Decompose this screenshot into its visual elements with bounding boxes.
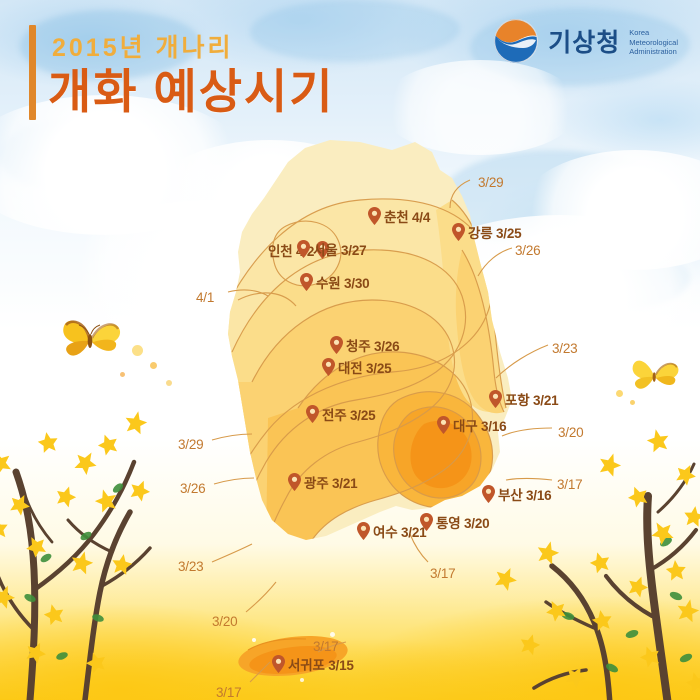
map-pin-icon <box>297 240 310 258</box>
city-marker-춘천[interactable]: 춘천 4/4 <box>368 206 430 226</box>
map-pin-icon <box>357 522 370 540</box>
city-marker-수원[interactable]: 수원 3/30 <box>300 272 369 292</box>
contour-label: 4/1 <box>196 290 214 305</box>
city-label: 서귀포 3/15 <box>288 654 354 674</box>
city-label: 춘천 4/4 <box>384 206 430 226</box>
forsythia-branch <box>0 400 210 700</box>
dot-decoration <box>150 362 157 369</box>
city-label: 강릉 3/25 <box>468 222 521 242</box>
page-title: 개화 예상시기 <box>48 68 335 115</box>
sparkle <box>330 632 335 637</box>
page-subtitle: 2015년 개나리 <box>52 28 234 64</box>
map-pin-icon <box>288 473 301 491</box>
kma-name-ko: 기상청 <box>548 23 620 59</box>
forsythia-branch <box>490 420 700 700</box>
kma-name-en-line2: Meteorological <box>629 38 678 48</box>
map-pin-icon <box>300 273 313 291</box>
city-label: 청주 3/26 <box>346 335 399 355</box>
sparkle <box>252 638 256 642</box>
map-pin-icon <box>489 390 502 408</box>
infographic-canvas: 2015년 개나리 개화 예상시기 기상청 Korea Meteorologic… <box>0 0 700 700</box>
city-label: 수원 3/30 <box>316 272 369 292</box>
city-marker-강릉[interactable]: 강릉 3/25 <box>452 222 521 242</box>
city-label: 통영 3/20 <box>436 512 489 532</box>
contour-label: 3/17 <box>430 566 455 581</box>
city-label: 전주 3/25 <box>322 404 375 424</box>
dot-decoration <box>616 390 623 397</box>
kma-name-en: Korea Meteorological Administration <box>629 25 678 58</box>
kma-name-en-line3: Administration <box>629 47 678 57</box>
map-pin-icon <box>330 336 343 354</box>
dot-decoration <box>166 380 172 386</box>
contour-label: 3/23 <box>552 341 577 356</box>
contour-label: 3/17 <box>313 639 338 654</box>
dot-decoration <box>630 400 635 405</box>
title-accent-bar <box>29 25 36 120</box>
city-marker-여수[interactable]: 여수 3/21 <box>357 521 426 541</box>
city-label: 대전 3/25 <box>338 357 391 377</box>
map-pin-icon <box>437 416 450 434</box>
dot-decoration <box>132 345 143 356</box>
map-pin-icon <box>420 513 433 531</box>
city-marker-광주[interactable]: 광주 3/21 <box>288 472 357 492</box>
city-marker-청주[interactable]: 청주 3/26 <box>330 335 399 355</box>
city-label: 포항 3/21 <box>505 389 558 409</box>
city-label: 여수 3/21 <box>373 521 426 541</box>
city-marker-포항[interactable]: 포항 3/21 <box>489 389 558 409</box>
map-pin-icon <box>306 405 319 423</box>
map-pin-icon <box>452 223 465 241</box>
forsythia-blossoms <box>491 427 700 694</box>
kma-name-en-line1: Korea <box>629 28 678 38</box>
city-marker-서울[interactable]: 서울 3/27 <box>297 239 366 259</box>
sparkle <box>300 678 304 682</box>
contour-label: 3/17 <box>216 685 241 700</box>
map-pin-icon <box>272 655 285 673</box>
kma-wave-mountain-emblem-icon <box>493 18 539 64</box>
map-pin-icon <box>368 207 381 225</box>
contour-label: 3/20 <box>212 614 237 629</box>
city-marker-통영[interactable]: 통영 3/20 <box>420 512 489 532</box>
city-label: 광주 3/21 <box>304 472 357 492</box>
contour-label: 3/29 <box>478 175 503 190</box>
city-marker-대전[interactable]: 대전 3/25 <box>322 357 391 377</box>
butterfly-icon <box>60 310 122 362</box>
forsythia-blossoms <box>0 409 153 675</box>
map-pin-icon <box>322 358 335 376</box>
contour-label: 3/26 <box>515 243 540 258</box>
kma-logo: 기상청 Korea Meteorological Administration <box>493 18 678 64</box>
city-label: 서울 3/27 <box>313 239 366 259</box>
city-marker-전주[interactable]: 전주 3/25 <box>306 404 375 424</box>
dot-decoration <box>120 372 125 377</box>
butterfly-icon <box>630 352 680 394</box>
city-marker-서귀포[interactable]: 서귀포 3/15 <box>272 654 354 674</box>
